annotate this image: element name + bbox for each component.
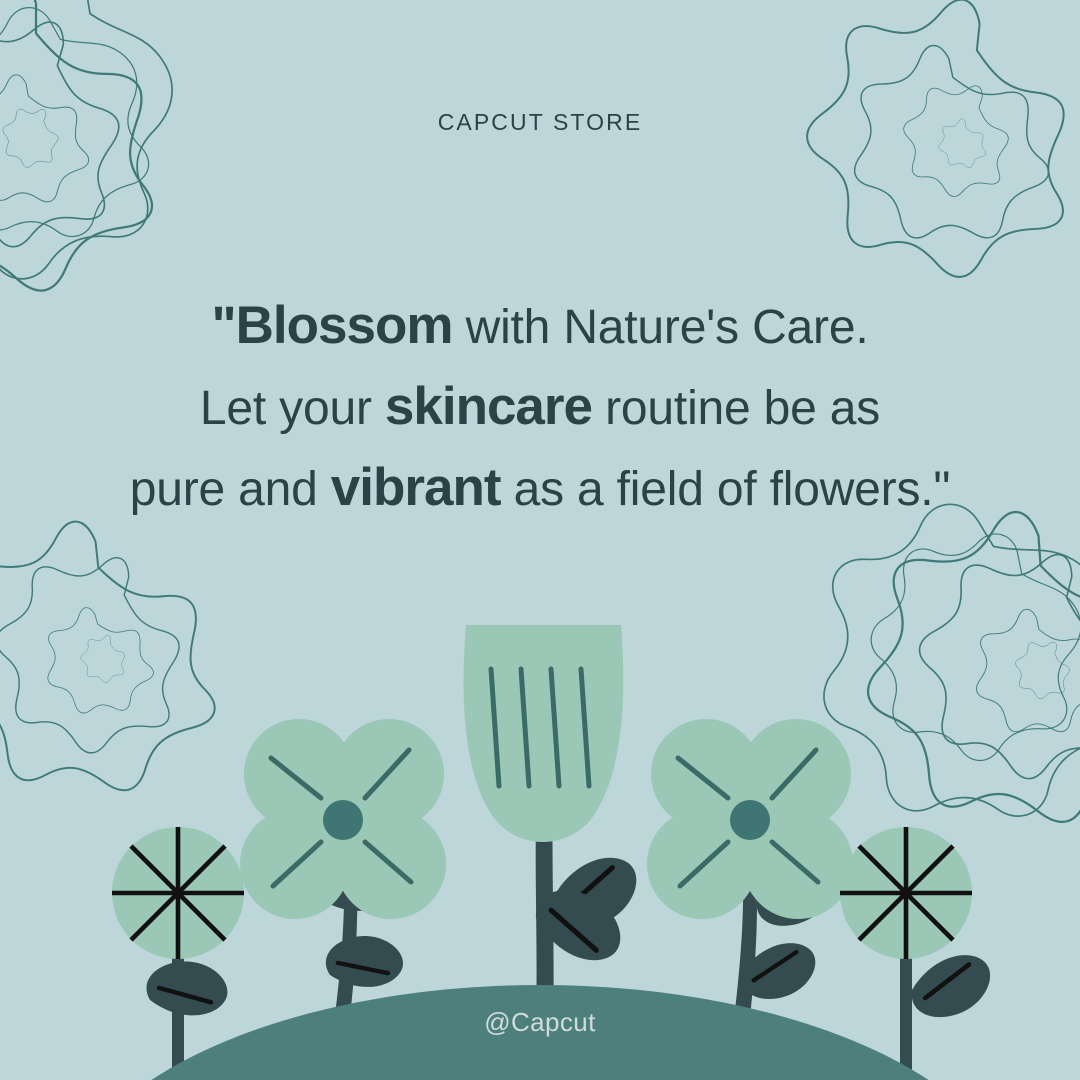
quote-line-3-pre: pure and <box>130 463 331 516</box>
quote-emphasis-vibrant: vibrant <box>331 458 501 517</box>
quote-line-3: pure and vibrant as a field of flowers." <box>0 448 1080 529</box>
brand-header: CAPCUT STORE <box>0 109 1080 136</box>
quote-line-2: Let your skincare routine be as <box>0 367 1080 448</box>
quote-emphasis-skincare: skincare <box>385 377 592 436</box>
quote-line-1: "Blossom with Nature's Care. <box>0 286 1080 367</box>
poster-canvas: CAPCUT STORE "Blossom with Nature's Care… <box>0 0 1080 1080</box>
quote-line-1-rest: with Nature's Care. <box>452 301 868 354</box>
quote-emphasis-blossom: "Blossom <box>212 296 453 355</box>
quote-block: "Blossom with Nature's Care. Let your sk… <box>0 286 1080 529</box>
quote-line-2-pre: Let your <box>200 382 385 435</box>
flower-scene-layer <box>0 0 1080 1080</box>
watermark-handle: @Capcut <box>0 1007 1080 1038</box>
quote-line-3-rest: as a field of flowers." <box>500 463 950 516</box>
flower-starburst-right <box>840 827 999 1080</box>
quote-line-2-rest: routine be as <box>592 382 880 435</box>
